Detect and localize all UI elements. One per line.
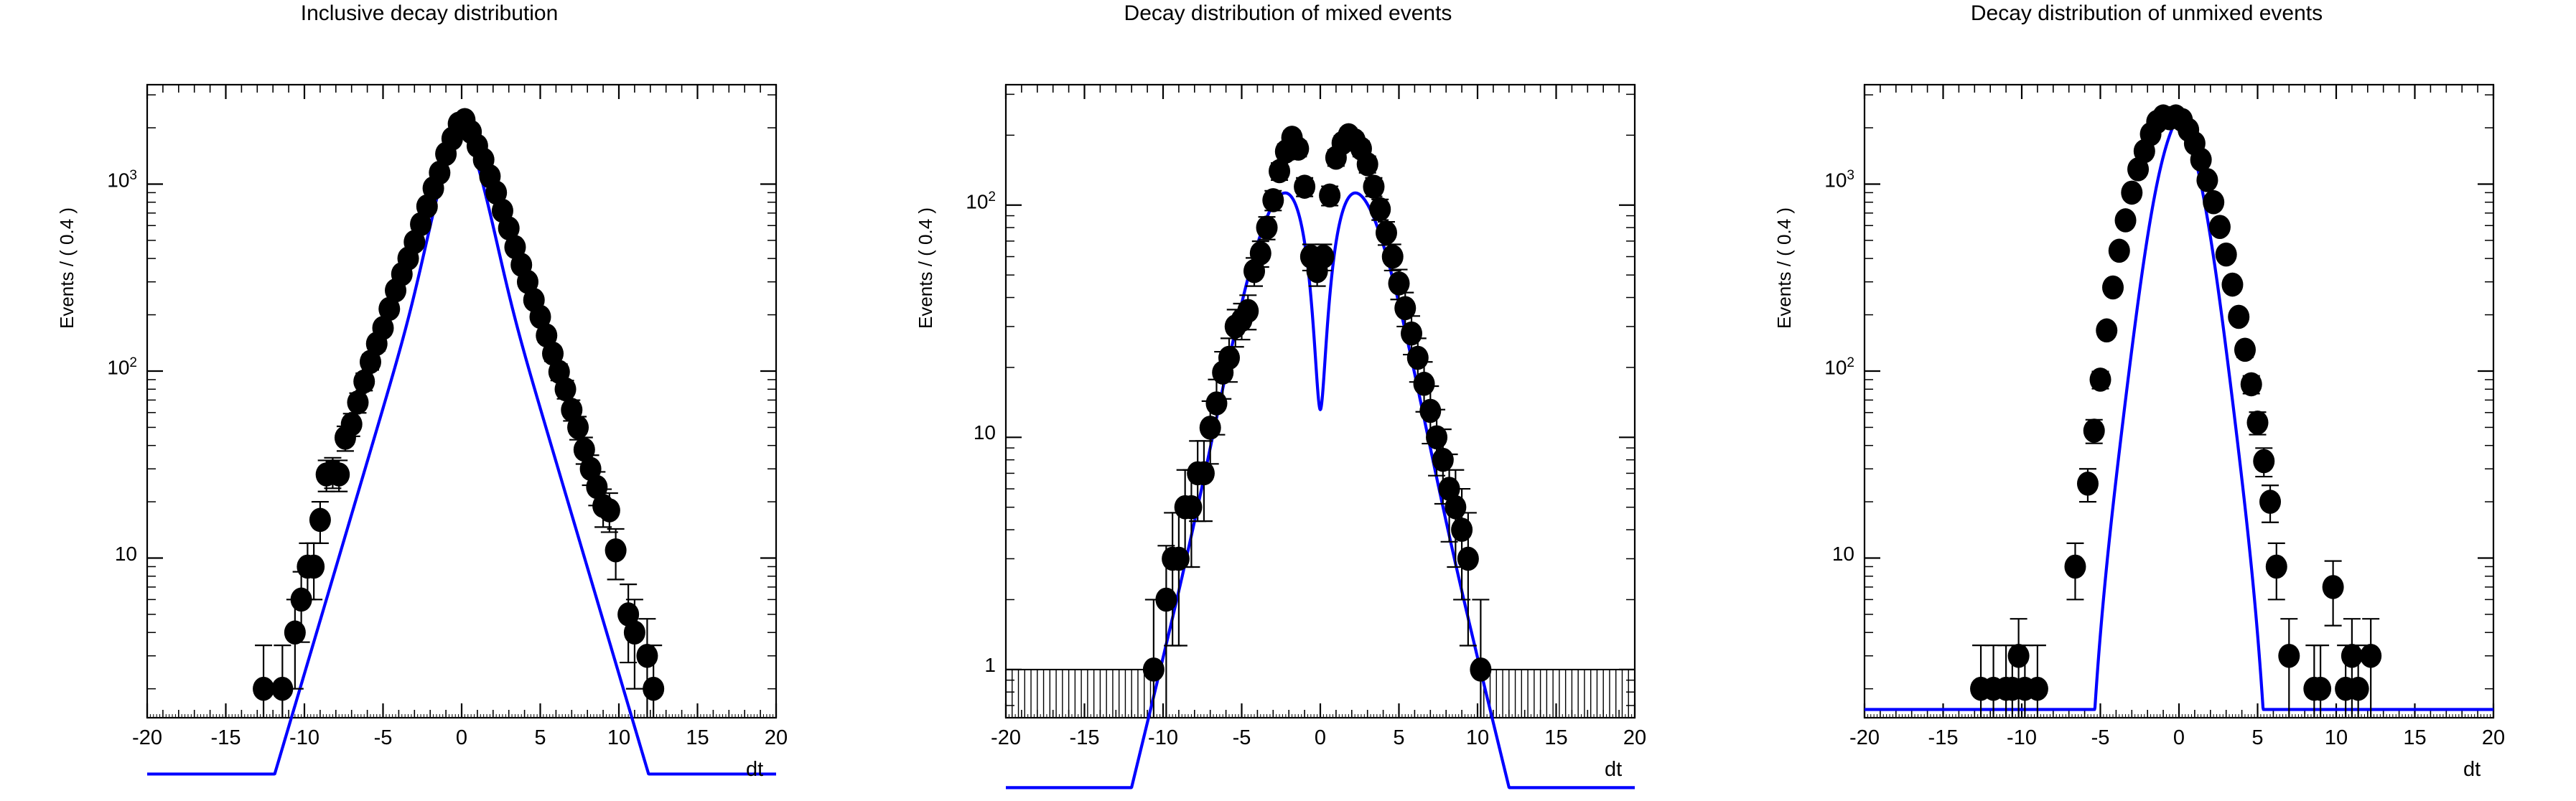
x-tick-label: 0 bbox=[2150, 726, 2208, 750]
plot-frame bbox=[147, 85, 776, 718]
data-point bbox=[1319, 184, 1340, 208]
data-point bbox=[555, 377, 577, 401]
data-points bbox=[1143, 123, 1492, 718]
data-point bbox=[605, 529, 627, 579]
x-axis-ticks bbox=[1006, 85, 1635, 718]
data-point bbox=[2096, 319, 2117, 343]
fit-curve bbox=[1865, 115, 2493, 709]
x-tick-label: -10 bbox=[276, 726, 333, 750]
data-point bbox=[2341, 619, 2363, 718]
x-axis-label: dt bbox=[746, 758, 763, 782]
data-point bbox=[2121, 181, 2142, 205]
x-tick-label: -10 bbox=[1993, 726, 2050, 750]
data-point bbox=[341, 412, 363, 436]
data-point bbox=[2228, 305, 2249, 329]
x-axis-label: dt bbox=[1605, 758, 1622, 782]
data-point bbox=[2266, 543, 2287, 599]
y-tick-label: 103 bbox=[107, 168, 137, 192]
data-point bbox=[2234, 338, 2256, 362]
x-axis-label: dt bbox=[2463, 758, 2481, 782]
data-point bbox=[2360, 619, 2381, 718]
x-tick-label: 10 bbox=[1449, 726, 1506, 750]
data-point bbox=[2221, 273, 2243, 297]
y-axis-ticks bbox=[1006, 94, 1635, 706]
data-point bbox=[2310, 645, 2331, 718]
x-axis-ticks bbox=[147, 85, 776, 718]
x-tick-label: 5 bbox=[1371, 726, 1428, 750]
data-point bbox=[1357, 152, 1378, 177]
data-point bbox=[2196, 168, 2218, 192]
y-tick-label: 1 bbox=[984, 654, 996, 677]
x-tick-label: -10 bbox=[1134, 726, 1192, 750]
y-tick-label: 10 bbox=[974, 421, 996, 444]
data-point bbox=[2077, 469, 2099, 502]
x-tick-label: -5 bbox=[2072, 726, 2129, 750]
data-point bbox=[1155, 545, 1177, 718]
data-point bbox=[2216, 243, 2237, 267]
x-tick-label: 15 bbox=[669, 726, 727, 750]
x-tick-label: 20 bbox=[1606, 726, 1663, 750]
x-tick-label: -20 bbox=[118, 726, 176, 750]
data-point bbox=[2203, 190, 2224, 215]
data-point bbox=[567, 416, 589, 440]
x-tick-label: 15 bbox=[2386, 726, 2444, 750]
x-tick-label: -20 bbox=[977, 726, 1035, 750]
data-point bbox=[2027, 645, 2048, 718]
y-axis-ticks bbox=[147, 95, 776, 688]
data-point bbox=[2253, 448, 2274, 477]
y-axis-label: Events / ( 0.4 ) bbox=[1773, 207, 1796, 329]
data-point bbox=[1262, 188, 1284, 212]
plot-frame bbox=[1865, 85, 2493, 718]
plot-frame bbox=[1006, 85, 1635, 718]
y-tick-label: 102 bbox=[1824, 355, 1854, 379]
data-point bbox=[2109, 239, 2130, 263]
x-tick-label: 15 bbox=[1528, 726, 1585, 750]
x-tick-label: 0 bbox=[433, 726, 490, 750]
data-point bbox=[1143, 599, 1165, 718]
data-point bbox=[1256, 215, 1278, 240]
data-points bbox=[253, 108, 664, 718]
y-axis-ticks bbox=[1865, 95, 2493, 688]
fit-curve bbox=[147, 118, 776, 774]
data-point bbox=[1287, 136, 1309, 161]
x-axis-ticks bbox=[1865, 85, 2493, 718]
data-point bbox=[1363, 174, 1384, 199]
plot-panel-mixed: Decay distribution of mixed events 10210… bbox=[859, 0, 1717, 801]
y-tick-label: 10 bbox=[1832, 543, 1854, 566]
x-tick-label: -5 bbox=[1213, 726, 1271, 750]
data-point bbox=[1382, 244, 1404, 270]
x-tick-label: -15 bbox=[197, 726, 255, 750]
y-axis-label: Events / ( 0.4 ) bbox=[915, 207, 937, 329]
plot-panel-inclusive: Inclusive decay distribution 10310210-20… bbox=[0, 0, 859, 801]
y-tick-label: 102 bbox=[107, 355, 137, 379]
y-axis-label: Events / ( 0.4 ) bbox=[56, 207, 78, 329]
data-point bbox=[2209, 215, 2231, 239]
data-point bbox=[253, 645, 274, 718]
x-tick-label: 10 bbox=[590, 726, 648, 750]
y-tick-label: 102 bbox=[966, 189, 996, 213]
data-point bbox=[2247, 411, 2269, 435]
data-point bbox=[2259, 485, 2281, 522]
x-tick-label: 5 bbox=[512, 726, 569, 750]
data-point bbox=[1369, 197, 1391, 222]
plot-svg-mixed bbox=[859, 0, 1717, 801]
data-point bbox=[2278, 619, 2300, 718]
plot-panel-unmixed: Decay distribution of unmixed events 103… bbox=[1717, 0, 2576, 801]
x-tick-label: 20 bbox=[2465, 726, 2522, 750]
data-point bbox=[2241, 373, 2262, 397]
figure-canvas: Inclusive decay distribution 10310210-20… bbox=[0, 0, 2576, 801]
data-point bbox=[2115, 208, 2137, 233]
x-tick-label: 5 bbox=[2229, 726, 2287, 750]
data-point bbox=[2064, 543, 2086, 599]
data-points bbox=[1970, 104, 2381, 718]
data-point bbox=[271, 645, 293, 718]
x-tick-label: -20 bbox=[1836, 726, 1893, 750]
data-point bbox=[1376, 221, 1397, 245]
y-tick-label: 10 bbox=[115, 543, 137, 566]
x-tick-label: -15 bbox=[1056, 726, 1114, 750]
data-point bbox=[309, 502, 331, 543]
y-tick-label: 103 bbox=[1824, 168, 1854, 192]
data-point bbox=[2102, 276, 2124, 300]
x-tick-label: 10 bbox=[2307, 726, 2365, 750]
plot-svg-unmixed bbox=[1717, 0, 2576, 801]
x-tick-label: -5 bbox=[355, 726, 412, 750]
x-tick-label: -15 bbox=[1915, 726, 1972, 750]
data-point bbox=[2090, 367, 2111, 392]
data-point bbox=[347, 390, 368, 415]
x-tick-label: 0 bbox=[1292, 726, 1349, 750]
data-point bbox=[2083, 418, 2105, 443]
data-point bbox=[2008, 619, 2030, 718]
plot-svg-inclusive bbox=[0, 0, 859, 801]
data-point bbox=[2323, 561, 2344, 626]
x-tick-label: 20 bbox=[747, 726, 805, 750]
data-point bbox=[1294, 174, 1315, 199]
